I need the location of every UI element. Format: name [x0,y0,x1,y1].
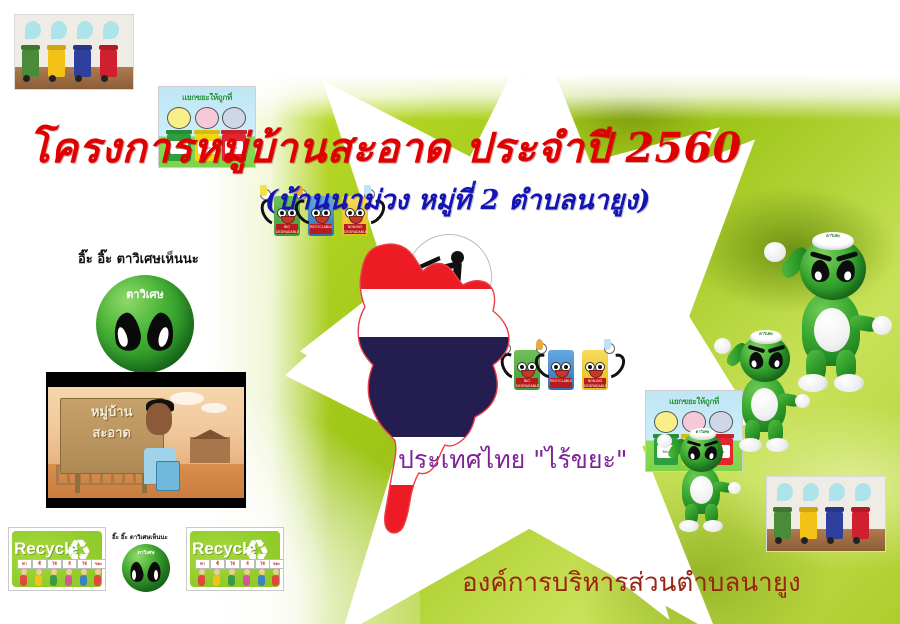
thumbnail-strip: แยกขยะให้ถูกที่ ขยะ ขยะ ขยะ BIODEGRADABL… [0,0,900,100]
cartoon-village-scene: หมู่บ้าน สะอาด [46,372,246,508]
green-mascot-small: ตาวิเศษ [656,428,742,540]
poster-title: โครงการหมู่บ้านสะอาด ประจำปี 2560 [28,116,708,181]
recycle-banner-left: Recycle ♻ พา ซื้ ใช้ ลื่ ใช้ ขยะ [8,527,106,591]
thailand-map [333,235,568,535]
thumbnail-four-colored-bins-photo-right [766,476,886,552]
bin-label-nonbio: NON-BIODEGRADABLE [344,224,366,234]
recycle-banner-right: Recycle ♻ พา ซื้ ใช้ ลื่ ใช้ ขยะ [186,527,284,591]
thumbnail-four-colored-bins-photo [14,14,134,90]
poster-canvas: แยกขยะให้ถูกที่ ขยะ ขยะ ขยะ BIODEGRADABL… [0,0,900,624]
eyeball-mascot-small-ball-text: ตาวิเศษ [122,549,170,557]
poster-caption: แยกขยะให้ถูกที่ [163,91,251,104]
mascot-cap-large: ตาวิเศษ [812,232,854,250]
poster-subtitle: (บ้านนาม่วง หมู่ที่ 2 ตำบลนายูง) [265,178,900,221]
mascot-cap-medium: ตาวิเศษ [750,330,782,344]
eyeball-mascot-ball: ตาวิเศษ [96,275,194,373]
eyeball-mascot-large: อิ๊ะ อิ๊ะ ตาวิเศษเห็นนะ ตาวิเศษ [78,248,199,373]
eyeball-mascot-caption: อิ๊ะ อิ๊ะ ตาวิเศษเห็นนะ [78,248,199,269]
bin-label-nonbio-2: NON-BIODEGRADABLE [584,378,606,388]
eyeball-mascot-small-ball: ตาวิเศษ [122,544,170,592]
mascot-cap-small: ตาวิเศษ [689,428,716,440]
bin-mascot-nonbio-2: NON-BIODEGRADABLE [582,350,608,390]
bin-label-recyclable: RECYCLABLE [310,224,332,234]
poster-organization: องค์การบริหารส่วนตำบลนายูง [462,562,801,603]
eyeball-mascot-small: อิ๊ะ อิ๊ะ ตาวิเศษเห็นนะ ตาวิเศษ [112,532,170,592]
eyeball-mascot-small-caption: อิ๊ะ อิ๊ะ ตาวิเศษเห็นนะ [112,532,170,542]
bin-label-bio: BIODEGRADABLE [276,224,298,234]
eyeball-mascot-ball-text: ตาวิเศษ [96,285,194,303]
poster-slogan: ประเทศไทย "ไร้ขยะ" [398,440,627,480]
